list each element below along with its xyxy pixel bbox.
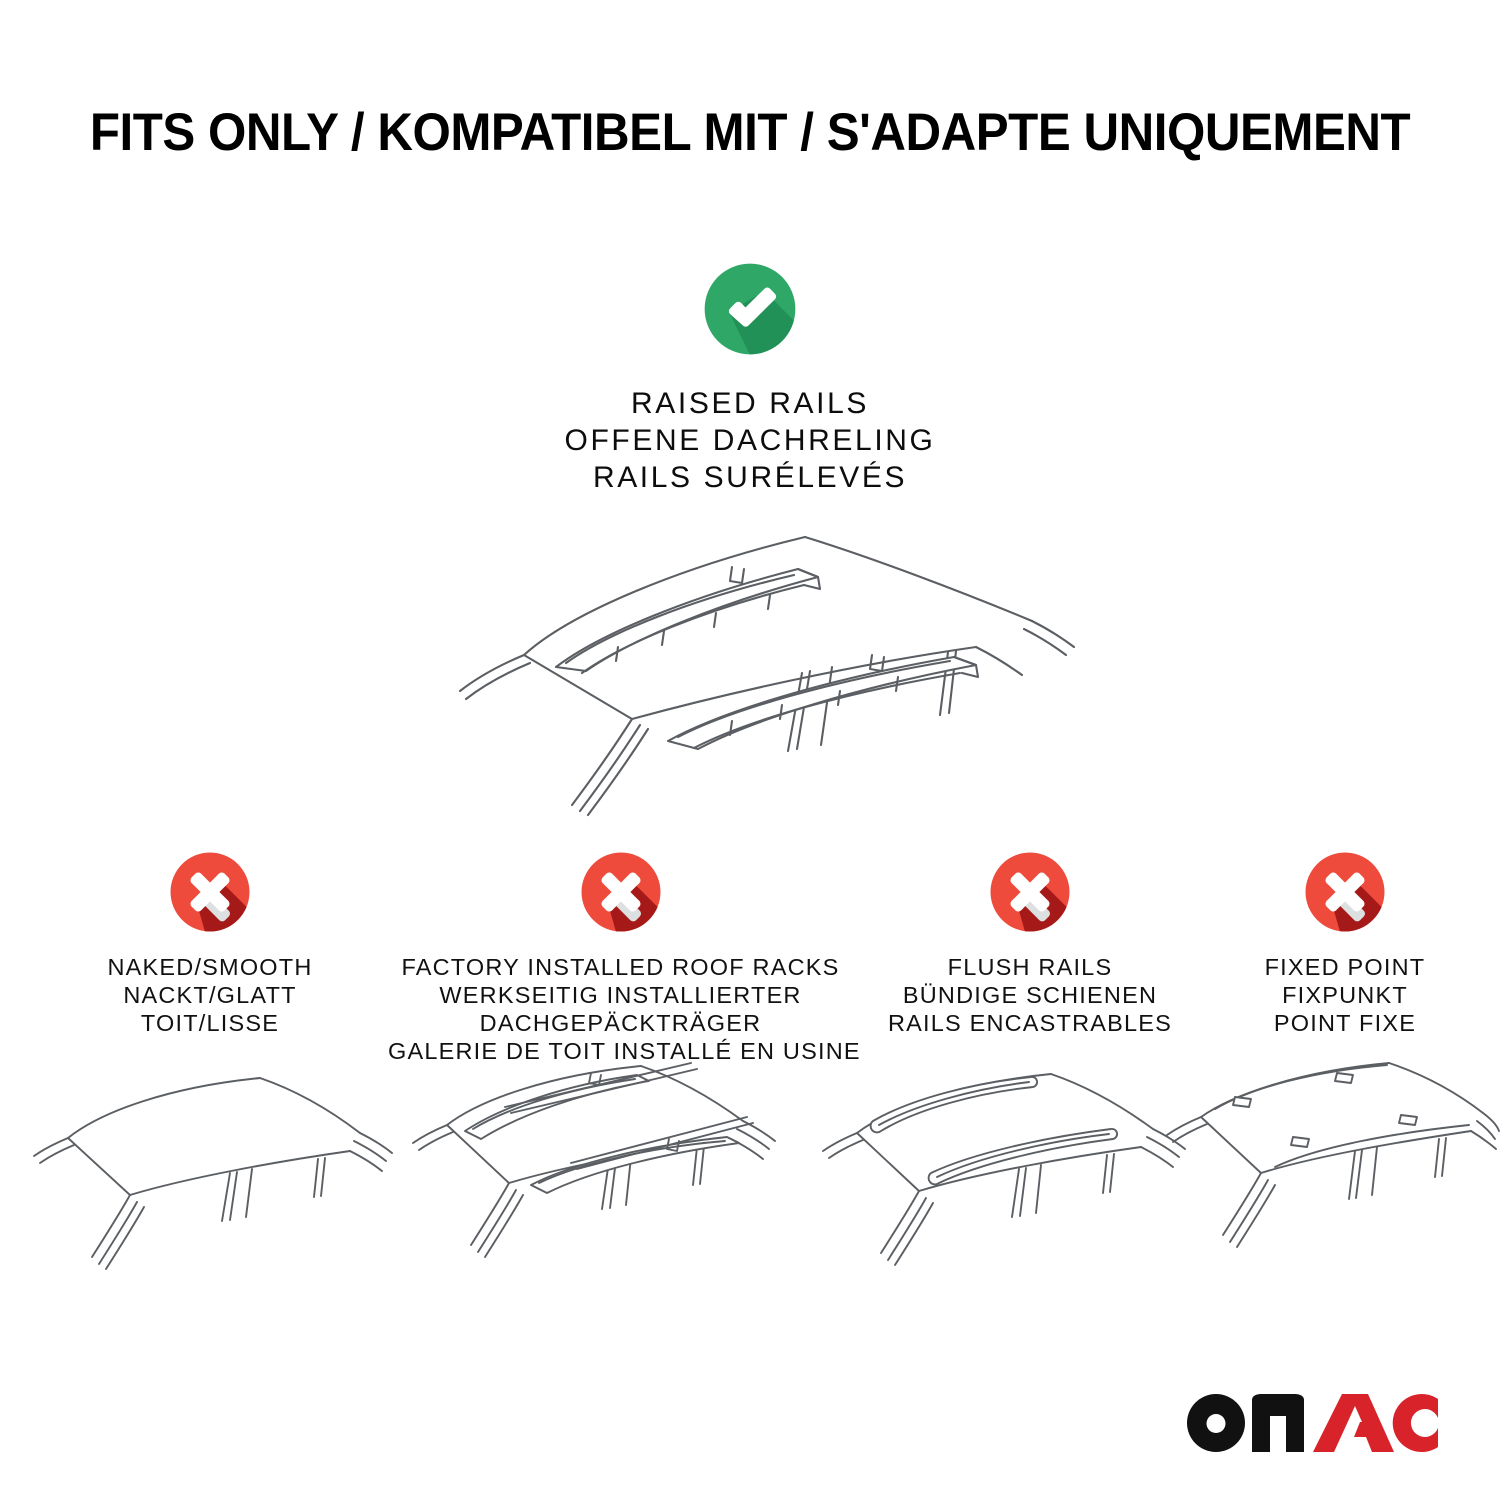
incompatible-labels: NAKED/SMOOTH NACKT/GLATT TOIT/LISSE: [35, 953, 385, 1037]
incompatible-section: NAKED/SMOOTH NACKT/GLATT TOIT/LISSE FACT…: [0, 845, 1500, 1075]
incompatible-item-factory-roof-racks: FACTORY INSTALLED ROOF RACKS WERKSEITIG …: [388, 845, 853, 1065]
incompatible-label-en: NAKED/SMOOTH: [35, 953, 385, 981]
incompatible-item-naked-smooth: NAKED/SMOOTH NACKT/GLATT TOIT/LISSE: [35, 845, 385, 1037]
incompatible-labels: FACTORY INSTALLED ROOF RACKS WERKSEITIG …: [388, 953, 853, 1065]
x-circle-icon: [163, 845, 257, 939]
x-circle-icon: [574, 845, 668, 939]
incompatible-label-de: NACKT/GLATT: [35, 981, 385, 1009]
incompatible-label-fr: RAILS ENCASTRABLES: [855, 1009, 1205, 1037]
car-roof-factory-roof-racks-illustration: [405, 1055, 805, 1290]
incompatible-label-de-1: WERKSEITIG INSTALLIERTER: [388, 981, 853, 1009]
page-title: FITS ONLY / KOMPATIBEL MIT / S'ADAPTE UN…: [53, 103, 1448, 163]
incompatible-label-fr: POINT FIXE: [1205, 1009, 1485, 1037]
compatible-labels: RAISED RAILS OFFENE DACHRELING RAILS SUR…: [450, 385, 1050, 496]
check-circle-icon: [696, 255, 804, 363]
incompatible-label-fr: TOIT/LISSE: [35, 1009, 385, 1037]
incompatible-labels: FLUSH RAILS BÜNDIGE SCHIENEN RAILS ENCAS…: [855, 953, 1205, 1037]
car-roof-with-raised-rails-illustration: [420, 505, 1100, 835]
incompatible-label-en: FIXED POINT: [1205, 953, 1485, 981]
compatible-label-en: RAISED RAILS: [450, 385, 1050, 422]
omac-logo: [1182, 1390, 1442, 1452]
incompatible-label-de: BÜNDIGE SCHIENEN: [855, 981, 1205, 1009]
x-circle-icon: [1298, 845, 1392, 939]
incompatible-label-de: FIXPUNKT: [1205, 981, 1485, 1009]
incompatible-label-en: FACTORY INSTALLED ROOF RACKS: [388, 953, 853, 981]
compatible-section: RAISED RAILS OFFENE DACHRELING RAILS SUR…: [450, 255, 1050, 496]
compatible-label-de: OFFENE DACHRELING: [450, 422, 1050, 459]
incompatible-item-flush-rails: FLUSH RAILS BÜNDIGE SCHIENEN RAILS ENCAS…: [855, 845, 1205, 1037]
incompatible-label-en: FLUSH RAILS: [855, 953, 1205, 981]
compatible-label-fr: RAILS SURÉLEVÉS: [450, 459, 1050, 496]
incompatible-label-de-2: DACHGEPÄCKTRÄGER: [388, 1009, 853, 1037]
incompatible-labels: FIXED POINT FIXPUNKT POINT FIXE: [1205, 953, 1485, 1037]
x-circle-icon: [983, 845, 1077, 939]
incompatible-item-fixed-point: FIXED POINT FIXPUNKT POINT FIXE: [1205, 845, 1485, 1037]
car-roof-naked-smooth-illustration: [30, 1055, 420, 1290]
car-roof-flush-rails-illustration: [815, 1055, 1215, 1290]
car-roof-fixed-point-illustration: [1165, 1055, 1500, 1290]
